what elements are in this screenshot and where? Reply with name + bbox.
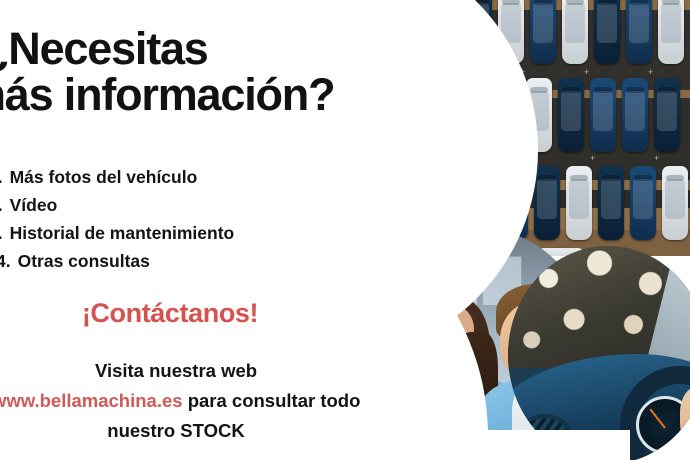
list-item: 4. Otras consultas xyxy=(0,247,388,275)
benefits-list: 1. Más fotos del vehículo 2. Vídeo 3. Hi… xyxy=(0,163,388,275)
list-item-label: Historial de mantenimiento xyxy=(10,219,235,247)
website-line-1: Visita nuestra web xyxy=(0,356,360,386)
list-item-number: 1. xyxy=(0,163,3,191)
website-line-3: nuestro STOCK xyxy=(0,416,360,446)
list-item-label: Más fotos del vehículo xyxy=(10,163,198,191)
text-layer: ¿Necesitas más información? 1. Más fotos… xyxy=(0,0,690,460)
list-item-label: Otras consultas xyxy=(18,247,150,275)
list-item-number: 2. xyxy=(0,191,3,219)
list-item-label: Vídeo xyxy=(10,191,58,219)
website-line-2: www.bellamachina.es para consultar todo xyxy=(0,386,360,416)
list-item: 1. Más fotos del vehículo xyxy=(0,163,388,191)
website-block: Visita nuestra web www.bellamachina.es p… xyxy=(0,356,360,446)
list-item-number: 4. xyxy=(0,247,11,275)
website-url[interactable]: www.bellamachina.es xyxy=(0,390,183,411)
contact-cta: ¡Contáctanos! xyxy=(0,298,340,329)
headline-line-2: más información? xyxy=(0,72,6,118)
headline-line-1: ¿Necesitas xyxy=(0,23,208,74)
website-line-2-rest: para consultar todo xyxy=(183,390,361,411)
page-title: ¿Necesitas más información? xyxy=(0,26,402,118)
promo-poster: + + + + + + xyxy=(0,0,690,460)
list-item: 2. Vídeo xyxy=(0,191,388,219)
list-item: 3. Historial de mantenimiento xyxy=(0,219,388,247)
list-item-number: 3. xyxy=(0,219,3,247)
